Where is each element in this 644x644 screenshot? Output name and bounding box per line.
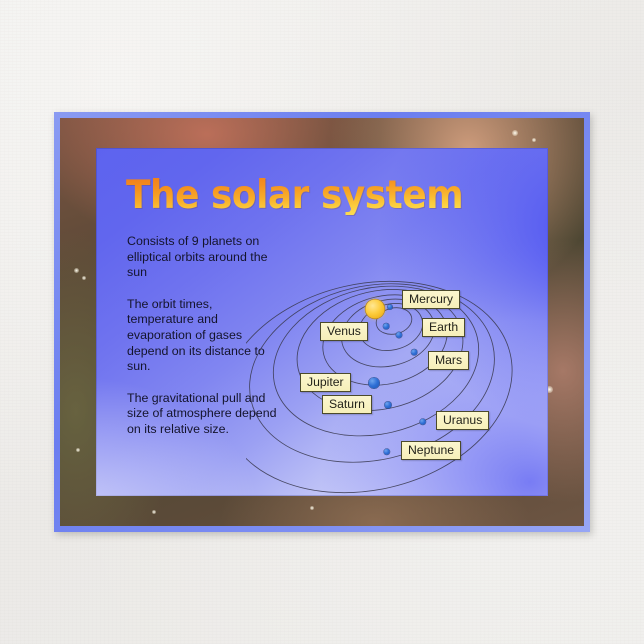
label-venus: Venus [320, 322, 368, 341]
star-speck [532, 138, 536, 142]
label-earth: Earth [422, 318, 465, 337]
planet-mars [411, 349, 417, 355]
planet-jupiter [369, 378, 380, 389]
orbit-ellipses [246, 196, 548, 496]
label-jupiter: Jupiter [300, 373, 351, 392]
star-speck [152, 510, 156, 514]
sun [366, 300, 385, 319]
label-mercury: Mercury [402, 290, 460, 309]
star-speck [76, 448, 80, 452]
presentation-slide: The solar system Consists of 9 planets o… [96, 148, 548, 496]
label-mars: Mars [428, 351, 469, 370]
label-uranus: Uranus [436, 411, 489, 430]
star-speck [512, 130, 518, 136]
star-speck [74, 268, 79, 273]
star-speck [82, 276, 86, 280]
star-speck [310, 506, 314, 510]
space-photo-frame: The solar system Consists of 9 planets o… [60, 118, 584, 526]
label-saturn: Saturn [322, 395, 372, 414]
label-neptune: Neptune [401, 441, 461, 460]
planet-saturn [385, 402, 392, 409]
solar-system-diagram: Mercury Venus Earth Mars Jupiter Saturn … [246, 196, 548, 496]
postcard: The solar system Consists of 9 planets o… [54, 112, 590, 532]
planet-venus [383, 323, 389, 329]
planet-mercury [388, 305, 393, 310]
planet-earth [396, 332, 402, 338]
